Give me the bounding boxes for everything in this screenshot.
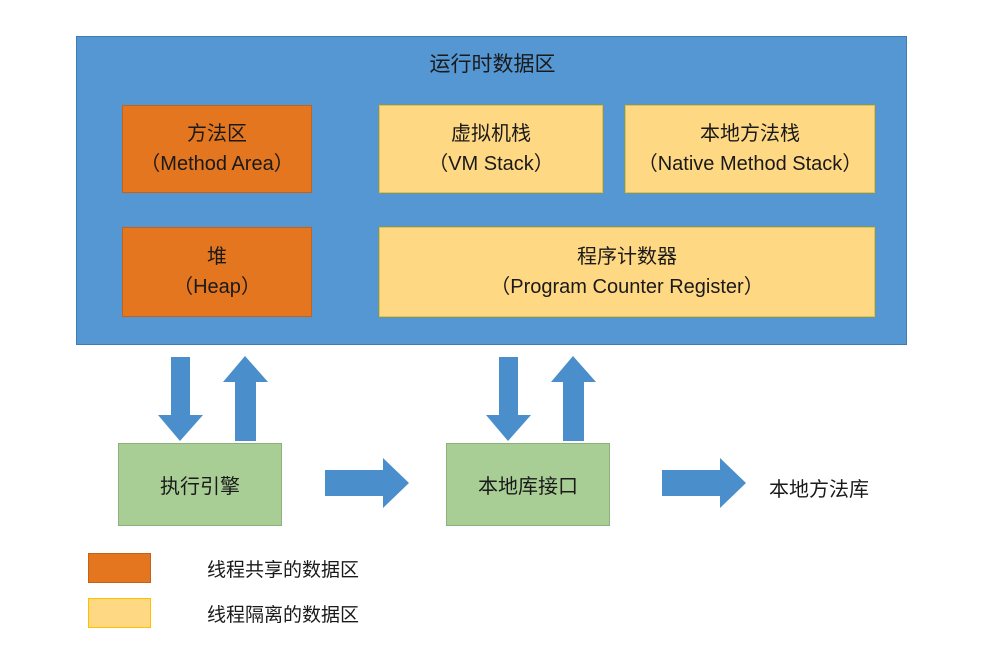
legend: 线程共享的数据区 线程隔离的数据区: [88, 553, 418, 633]
heap-label-en: （Heap）: [173, 272, 261, 302]
arrow-right-native-interface-to-native-library-icon: [662, 458, 746, 508]
component-box-execution-engine: 执行引擎: [118, 443, 282, 526]
pc-register-label-cn: 程序计数器: [577, 242, 677, 272]
native-method-stack-label-en: （Native Method Stack）: [638, 149, 863, 179]
memory-box-vm-stack: 虚拟机栈 （VM Stack）: [379, 105, 603, 193]
memory-box-method-area: 方法区 （Method Area）: [122, 105, 312, 193]
runtime-data-area-container: 运行时数据区 方法区 （Method Area） 虚拟机栈 （VM Stack）…: [76, 36, 907, 345]
arrow-down-runtime-to-execution-engine-icon: [158, 357, 203, 441]
native-method-stack-label-cn: 本地方法栈: [700, 119, 800, 149]
legend-swatch-thread-shared-icon: [88, 553, 151, 583]
arrow-up-execution-engine-to-runtime-icon: [223, 356, 268, 441]
vm-stack-label-cn: 虚拟机栈: [451, 119, 531, 149]
pc-register-label-en: （Program Counter Register）: [490, 272, 763, 302]
memory-box-native-method-stack: 本地方法栈 （Native Method Stack）: [625, 105, 875, 193]
native-interface-label: 本地库接口: [478, 470, 578, 499]
runtime-data-area-title: 运行时数据区: [77, 51, 908, 79]
legend-label-thread-shared: 线程共享的数据区: [207, 555, 359, 582]
arrow-right-execution-engine-to-native-interface-icon: [325, 458, 409, 508]
jvm-runtime-data-area-diagram: 运行时数据区 方法区 （Method Area） 虚拟机栈 （VM Stack）…: [0, 0, 998, 661]
legend-swatch-thread-isolated-icon: [88, 598, 151, 628]
memory-box-program-counter-register: 程序计数器 （Program Counter Register）: [379, 227, 875, 317]
legend-item-thread-shared: 线程共享的数据区: [88, 553, 359, 583]
heap-label-cn: 堆: [207, 242, 227, 272]
method-area-label-cn: 方法区: [187, 119, 247, 149]
arrow-down-runtime-to-native-interface-icon: [486, 357, 531, 441]
legend-label-thread-isolated: 线程隔离的数据区: [207, 600, 359, 627]
vm-stack-label-en: （VM Stack）: [428, 149, 554, 179]
arrow-up-native-interface-to-runtime-icon: [551, 356, 596, 441]
memory-box-heap: 堆 （Heap）: [122, 227, 312, 317]
component-box-native-interface: 本地库接口: [446, 443, 610, 526]
legend-item-thread-isolated: 线程隔离的数据区: [88, 598, 359, 628]
execution-engine-label: 执行引擎: [160, 470, 240, 499]
method-area-label-en: （Method Area）: [140, 149, 293, 179]
native-method-library-label: 本地方法库: [769, 473, 869, 502]
